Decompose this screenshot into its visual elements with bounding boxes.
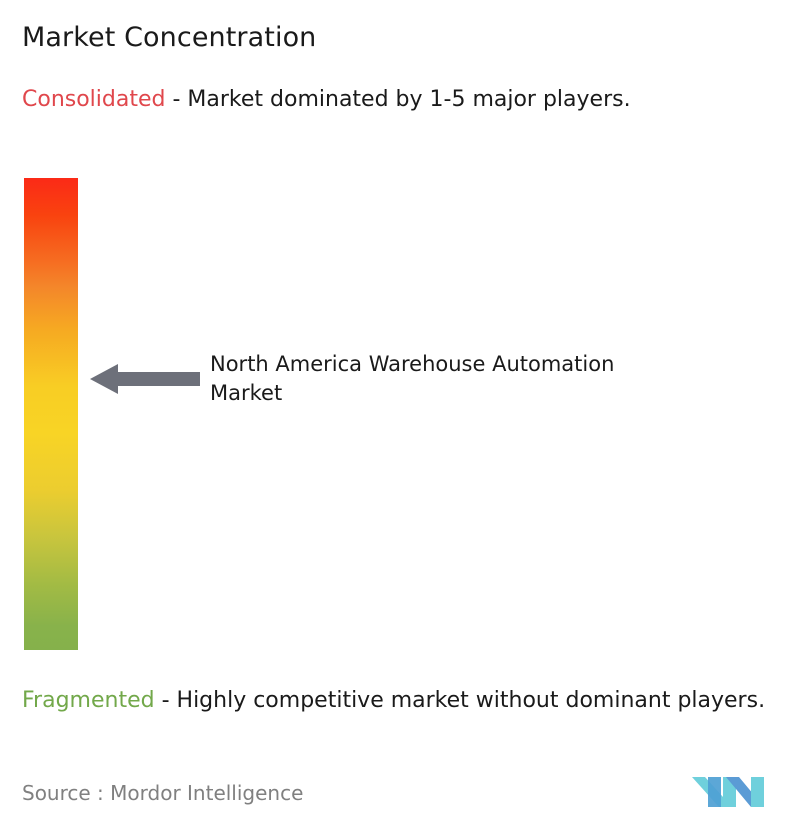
source-label: Source : — [22, 781, 104, 805]
source-name: Mordor Intelligence — [110, 781, 303, 805]
legend-fragmented-keyword: Fragmented — [22, 688, 155, 713]
legend-fragmented-description: - Highly competitive market without domi… — [162, 688, 765, 713]
legend-consolidated: Consolidated- Market dominated by 1-5 ma… — [22, 85, 762, 114]
legend-consolidated-description: - Market dominated by 1-5 major players. — [172, 87, 630, 112]
concentration-gradient-bar — [24, 178, 78, 650]
source-attribution: Source : Mordor Intelligence — [22, 780, 303, 806]
legend-fragmented: Fragmented- Highly competitive market wi… — [22, 686, 782, 715]
market-pointer-arrow — [90, 363, 200, 395]
page-title: Market Concentration — [22, 21, 316, 55]
mordor-intelligence-logo-icon — [692, 771, 764, 813]
legend-consolidated-keyword: Consolidated — [22, 87, 165, 112]
market-label: North America Warehouse Automation Marke… — [210, 350, 640, 408]
